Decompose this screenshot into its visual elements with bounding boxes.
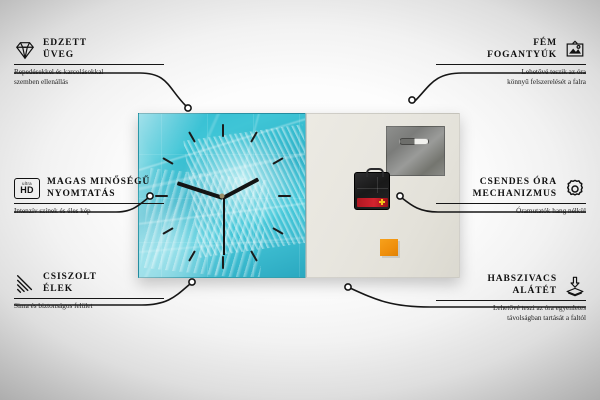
callout-header: CSENDES ÓRA MECHANIZMUS <box>436 177 586 200</box>
second-hand <box>223 197 225 255</box>
orange-foam-pad <box>380 239 398 256</box>
mechanism-hook <box>366 168 384 177</box>
connector-endpoint <box>189 279 195 285</box>
callout-habszivacs-alatet: HABSZIVACS ALÁTÉT Lehetővé teszi az óra … <box>436 274 586 323</box>
callout-subtitle: Lehetővé teszik az óra könnyű felszerelé… <box>436 68 586 87</box>
callout-header: ultra HD MAGAS MINŐSÉGŰ NYOMTATÁS <box>14 177 164 200</box>
callout-header: EDZETT ÜVEG <box>14 38 164 61</box>
callout-csendes-ora-mechanizmus: CSENDES ÓRA MECHANIZMUS Óramutatók hang … <box>436 177 586 217</box>
callout-title: CSISZOLT ÉLEK <box>43 272 97 295</box>
polished-edges-icon <box>14 273 36 295</box>
metal-hanger-plate <box>386 126 445 176</box>
callout-csiszolt-elek: CSISZOLT ÉLEK Sima és biztonságos felüle… <box>14 272 164 312</box>
clock-tick <box>222 124 224 137</box>
callout-subtitle: Lehetővé teszi az óra egyenletes távolsá… <box>436 304 586 323</box>
callout-subtitle: Sima és biztonságos felület <box>14 302 164 311</box>
quiet-clock-mechanism <box>354 172 390 210</box>
clock-tick <box>222 256 224 269</box>
connector-endpoint <box>409 97 415 103</box>
callout-subtitle: Óramutatók hang nélkül <box>436 207 586 216</box>
battery-plus-icon <box>379 199 385 205</box>
callout-title: MAGAS MINŐSÉGŰ NYOMTATÁS <box>47 177 150 200</box>
callout-title: EDZETT ÜVEG <box>43 38 87 61</box>
callout-header: HABSZIVACS ALÁTÉT <box>436 274 586 297</box>
clock-center-cap <box>220 193 225 198</box>
gear-icon <box>564 178 586 200</box>
callout-fem-fogantyuk: FÉM FOGANTYÚK Lehetővé teszik az óra kön… <box>436 38 586 87</box>
mechanism-seam <box>377 177 378 193</box>
foam-pad-icon <box>564 275 586 297</box>
callout-divider <box>14 64 164 65</box>
callout-title: FÉM FOGANTYÚK <box>487 38 557 61</box>
callout-divider <box>436 64 586 65</box>
product-image <box>138 113 460 278</box>
callout-divider <box>436 300 586 301</box>
hanger-keyhole-slot <box>399 138 429 145</box>
callout-header: FÉM FOGANTYÚK <box>436 38 586 61</box>
battery-label <box>357 198 388 207</box>
wall-mount-frame-icon <box>564 39 586 61</box>
connector-endpoint <box>345 284 351 290</box>
callout-title: HABSZIVACS ALÁTÉT <box>487 274 557 297</box>
callout-header: CSISZOLT ÉLEK <box>14 272 164 295</box>
clock-tick <box>278 195 291 197</box>
diamond-icon <box>14 39 36 61</box>
callout-subtitle: Repedésekkel és karcolásokkal szemben el… <box>14 68 164 87</box>
callout-divider <box>14 298 164 299</box>
connector-endpoint <box>185 105 191 111</box>
mechanism-seam <box>357 188 388 189</box>
callout-title: CSENDES ÓRA MECHANIZMUS <box>473 177 557 200</box>
ultra-hd-hd-label: HD <box>20 186 33 195</box>
callout-subtitle: Intenzív színek és éles kép <box>14 207 164 216</box>
callout-divider <box>436 203 586 204</box>
callout-divider <box>14 203 164 204</box>
callout-magas-minosegu-nyomtatas: ultra HD MAGAS MINŐSÉGŰ NYOMTATÁS Intenz… <box>14 177 164 217</box>
callout-edzett-uveg: EDZETT ÜVEG Repedésekkel és karcolásokka… <box>14 38 164 87</box>
infographic-canvas: EDZETT ÜVEG Repedésekkel és karcolásokka… <box>0 0 600 400</box>
ultra-hd-icon: ultra HD <box>14 178 40 199</box>
